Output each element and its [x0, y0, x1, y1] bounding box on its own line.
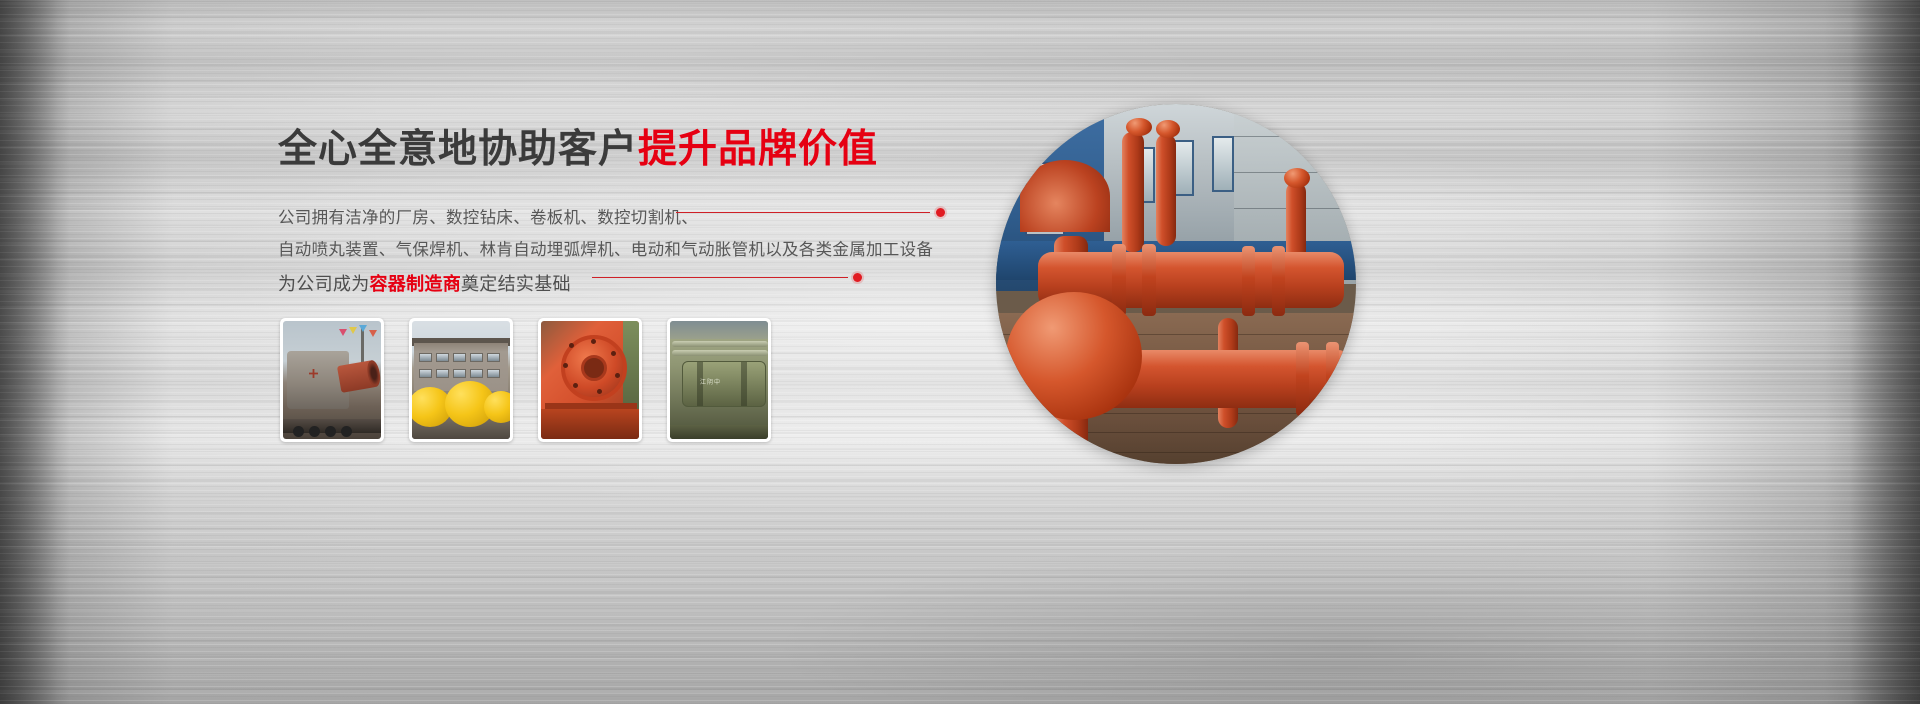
pipe-flange — [1242, 246, 1255, 316]
page-title: 全心全意地协助客户提升品牌价值 — [278, 128, 978, 173]
hero-banner: 全心全意地协助客户提升品牌价值 公司拥有洁净的厂房、数控钻床、卷板机、数控切割机… — [0, 0, 1920, 704]
building-window — [436, 353, 449, 362]
building-window — [419, 369, 432, 378]
mill-nameplate-text: 江阴中 — [700, 377, 721, 386]
pipe-flange — [1296, 342, 1309, 416]
accent-rule-1 — [676, 212, 930, 213]
overhead-pipe — [672, 350, 768, 356]
nozzle-cap — [1284, 168, 1310, 188]
description-line-1: 公司拥有洁净的厂房、数控钻床、卷板机、数控切割机、 — [278, 210, 698, 227]
description-line-2: 自动喷丸装置、气保焊机、林肯自动埋弧焊机、电动和气动胀管机以及各类金属加工设备 — [278, 242, 933, 259]
accent-rule-2 — [592, 277, 848, 278]
building-window — [487, 353, 500, 362]
trailer-wheel — [293, 426, 304, 437]
hero-photo-scene — [996, 104, 1356, 464]
thumbnail-image — [541, 321, 639, 439]
thumbnail-orange-rolling-machine[interactable] — [538, 318, 642, 442]
accent-dot-1 — [936, 208, 945, 217]
trailer-wheel — [325, 426, 336, 437]
machine-base — [541, 409, 639, 439]
nozzle-cap — [1126, 118, 1152, 136]
flag-pennant — [349, 327, 357, 334]
accent-dot-2 — [853, 273, 862, 282]
drum-bolt — [573, 383, 578, 388]
factory-window — [1212, 136, 1234, 192]
trailer-wheel — [309, 426, 320, 437]
vessel-elbow-head — [1020, 160, 1110, 232]
yellow-tank — [484, 391, 510, 423]
thumbnail-pressure-vessel-shell-on-trailer[interactable] — [280, 318, 384, 442]
building-window — [436, 369, 449, 378]
drum-bolt — [615, 373, 620, 378]
drum-bolt — [611, 351, 616, 356]
pipe-flange — [1142, 244, 1156, 316]
drum-bolt — [569, 343, 574, 348]
thumbnail-image: 江阴中 — [670, 321, 768, 439]
building-window — [470, 353, 483, 362]
building-window — [453, 353, 466, 362]
thumbnail-image — [283, 321, 381, 439]
nozzle-cap — [1156, 120, 1180, 138]
flag-pennant — [369, 330, 377, 337]
description-line-3-prefix: 为公司成为 — [278, 274, 370, 294]
building-window — [453, 369, 466, 378]
building-window — [487, 369, 500, 378]
page-title-plain: 全心全意地协助客户 — [278, 128, 638, 171]
ball-mill-body — [682, 361, 766, 407]
building-window — [419, 353, 432, 362]
thumbnail-green-ball-mill-equipment[interactable]: 江阴中 — [667, 318, 771, 442]
drum-hub — [581, 355, 607, 381]
description-line-3-suffix: 奠定结实基础 — [461, 274, 571, 294]
vessel-nozzle — [337, 360, 377, 393]
thumbnail-strip: 江阴中 — [280, 318, 771, 442]
thumbnail-image — [412, 321, 510, 439]
trailer-wheel — [341, 426, 352, 437]
drum-bolt — [563, 363, 568, 368]
description-line-3-highlight: 容器制造商 — [370, 274, 462, 294]
pipe-flange — [1272, 246, 1285, 316]
page-title-highlight: 提升品牌价值 — [638, 128, 878, 171]
overhead-pipe — [672, 341, 768, 347]
drum-bolt — [591, 339, 596, 344]
drum-bolt — [597, 389, 602, 394]
pipe-flange — [1326, 342, 1339, 416]
hero-circular-photo[interactable] — [996, 104, 1356, 464]
flag-pennant — [339, 329, 347, 336]
description-line-3: 为公司成为容器制造商奠定结实基础 — [278, 275, 571, 293]
banner-text-block: 全心全意地协助客户提升品牌价值 公司拥有洁净的厂房、数控钻床、卷板机、数控切割机… — [278, 128, 978, 173]
vessel-spherical-head — [1006, 292, 1142, 420]
vessel-riser-pipe — [1156, 134, 1176, 246]
vessel-riser-pipe — [1122, 132, 1144, 252]
mill-band — [741, 362, 747, 406]
workshop-floor — [670, 425, 768, 439]
workshop-ceiling — [670, 321, 768, 339]
building-window — [470, 369, 483, 378]
thumbnail-yellow-spherical-tanks-at-factory[interactable] — [409, 318, 513, 442]
